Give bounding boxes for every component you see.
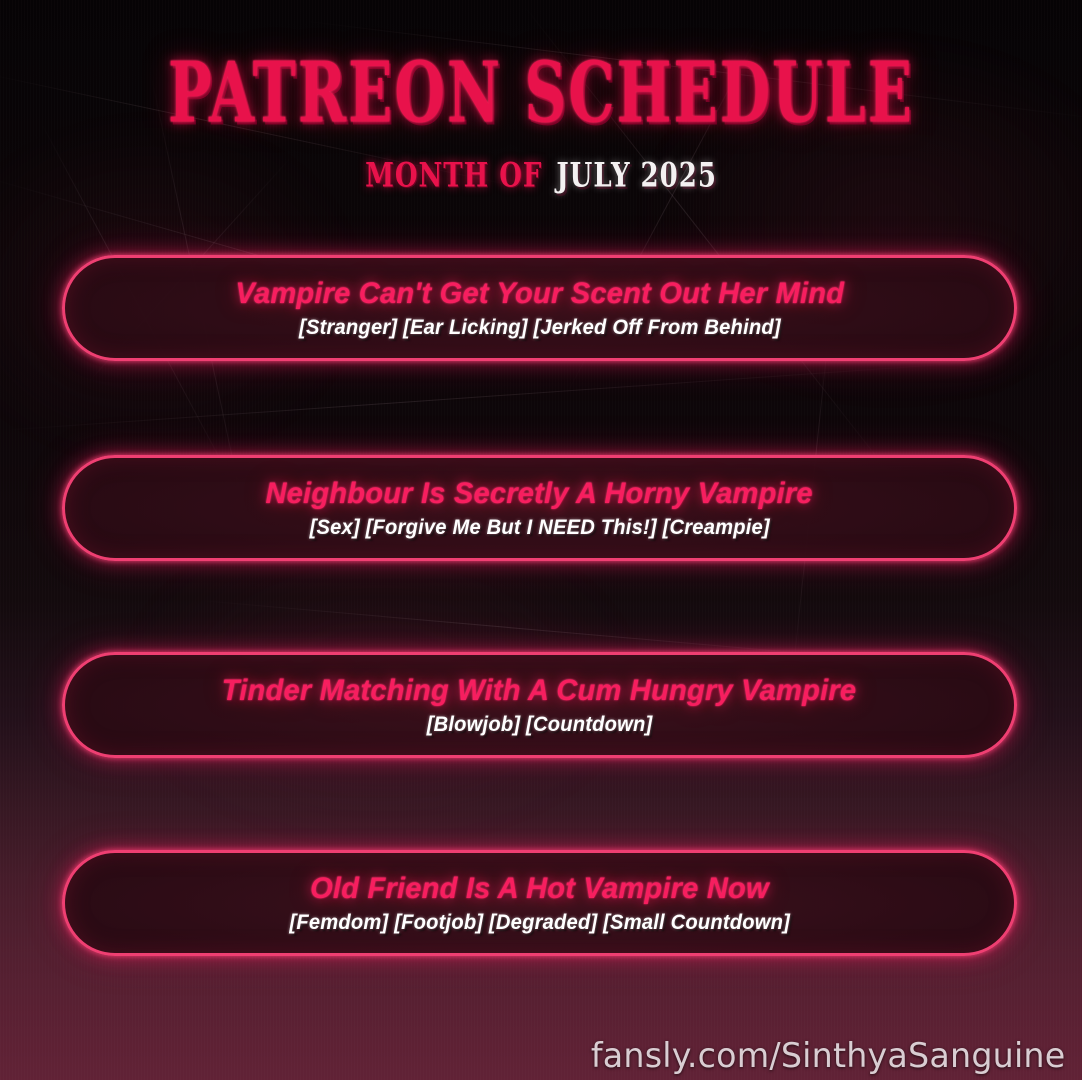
card-tags: [Sex] [Forgive Me But I NEED This!] [Cre… <box>309 516 769 540</box>
card-title: Tinder Matching With A Cum Hungry Vampir… <box>222 674 856 708</box>
poster-header: PATREON SCHEDULE MONTH OFJULY 2025 <box>0 0 1082 185</box>
subtitle-line: MONTH OFJULY 2025 <box>0 159 1082 193</box>
card-title: Vampire Can't Get Your Scent Out Her Min… <box>235 277 844 311</box>
month-label: MONTH OF <box>365 156 542 195</box>
schedule-card[interactable]: Old Friend Is A Hot Vampire Now [Femdom]… <box>62 850 1017 956</box>
card-tags: [Blowjob] [Countdown] <box>427 713 653 737</box>
card-title: Old Friend Is A Hot Vampire Now <box>310 872 769 906</box>
footer: fansly.com/SinthyaSanguine <box>586 1036 1070 1076</box>
card-tags: [Stranger] [Ear Licking] [Jerked Off Fro… <box>299 316 781 340</box>
schedule-card[interactable]: Vampire Can't Get Your Scent Out Her Min… <box>62 255 1017 361</box>
schedule-card[interactable]: Tinder Matching With A Cum Hungry Vampir… <box>62 652 1017 758</box>
page-title: PATREON SCHEDULE <box>0 52 1082 135</box>
schedule-card[interactable]: Neighbour Is Secretly A Horny Vampire [S… <box>62 455 1017 561</box>
card-title: Neighbour Is Secretly A Horny Vampire <box>266 477 813 511</box>
poster-root: PATREON SCHEDULE MONTH OFJULY 2025 Vampi… <box>0 0 1082 1080</box>
month-value: JULY 2025 <box>556 156 717 195</box>
profile-url-link[interactable]: fansly.com/SinthyaSanguine <box>591 1036 1066 1076</box>
card-tags: [Femdom] [Footjob] [Degraded] [Small Cou… <box>289 911 790 935</box>
